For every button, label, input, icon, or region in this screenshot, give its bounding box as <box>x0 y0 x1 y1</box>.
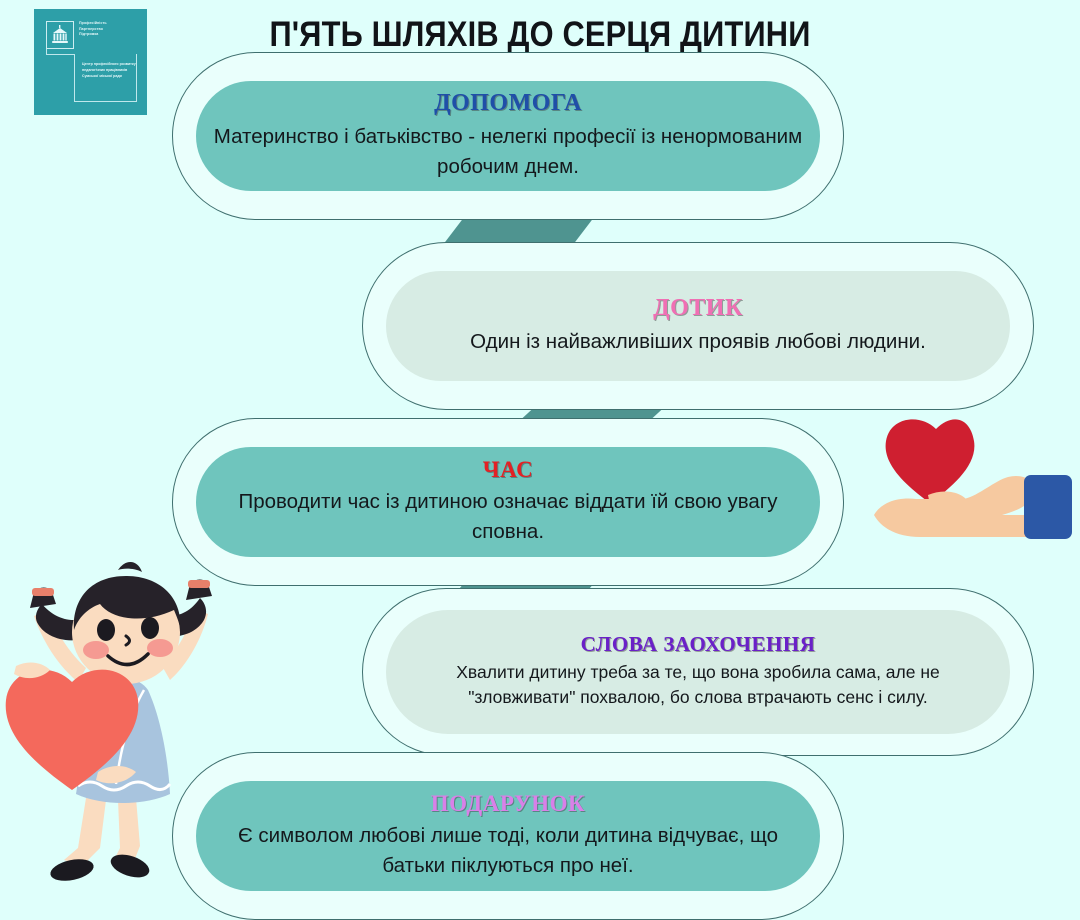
card-body: Материнство і батьківство - нелегкі проф… <box>212 122 804 180</box>
card-body: Є символом любові лише тоді, коли дитина… <box>212 821 804 879</box>
hand-holding-heart-illustration <box>868 415 1074 545</box>
heart-shape <box>886 419 975 503</box>
card-slova-zaokhochennya[interactable]: СЛОВА ЗАОХОЧЕННЯ Хвалити дитину треба за… <box>362 588 1034 756</box>
card-inner: ЧАС Проводити час із дитиною означає від… <box>196 447 820 557</box>
left-eye <box>97 619 115 641</box>
card-body: Проводити час із дитиною означає віддати… <box>212 487 804 545</box>
left-hair-tie <box>32 588 54 596</box>
card-heading: ДОПОМОГА <box>212 91 804 115</box>
card-inner: ДОТИК Один із найважливіших проявів любо… <box>386 271 1010 381</box>
card-body: Хвалити дитину треба за те, що вона зроб… <box>402 660 994 711</box>
card-dotyk[interactable]: ДОТИК Один із найважливіших проявів любо… <box>362 242 1034 410</box>
card-inner: ДОПОМОГА Материнство і батьківство - нел… <box>196 81 820 191</box>
card-heading: ПОДАРУНОК <box>212 792 804 815</box>
left-leg <box>64 798 106 866</box>
card-heading: ЧАС <box>212 458 804 481</box>
hand-shape <box>874 476 1036 537</box>
left-shoe <box>48 856 95 885</box>
infographic-poster: Професійність Партнерство Підтримка Цент… <box>0 0 1080 905</box>
right-cheek <box>147 639 173 657</box>
card-chas[interactable]: ЧАС Проводити час із дитиною означає від… <box>172 418 844 586</box>
card-inner: СЛОВА ЗАОХОЧЕННЯ Хвалити дитину треба за… <box>386 610 1010 734</box>
left-cheek <box>83 641 109 659</box>
card-podarunok[interactable]: ПОДАРУНОК Є символом любові лише тоді, к… <box>172 752 844 920</box>
card-dopomoha[interactable]: ДОПОМОГА Материнство і батьківство - нел… <box>172 52 844 220</box>
hair-tuft <box>118 562 142 572</box>
right-hair-tie <box>188 580 210 588</box>
girl-hugging-heart-illustration <box>0 548 232 898</box>
card-heading: ДОТИК <box>402 296 994 320</box>
right-eye <box>141 617 159 639</box>
card-inner: ПОДАРУНОК Є символом любові лише тоді, к… <box>196 781 820 891</box>
card-body: Один із найважливіших проявів любові люд… <box>402 327 994 356</box>
sleeve-cuff <box>1024 475 1072 539</box>
card-heading: СЛОВА ЗАОХОЧЕННЯ <box>402 634 994 655</box>
